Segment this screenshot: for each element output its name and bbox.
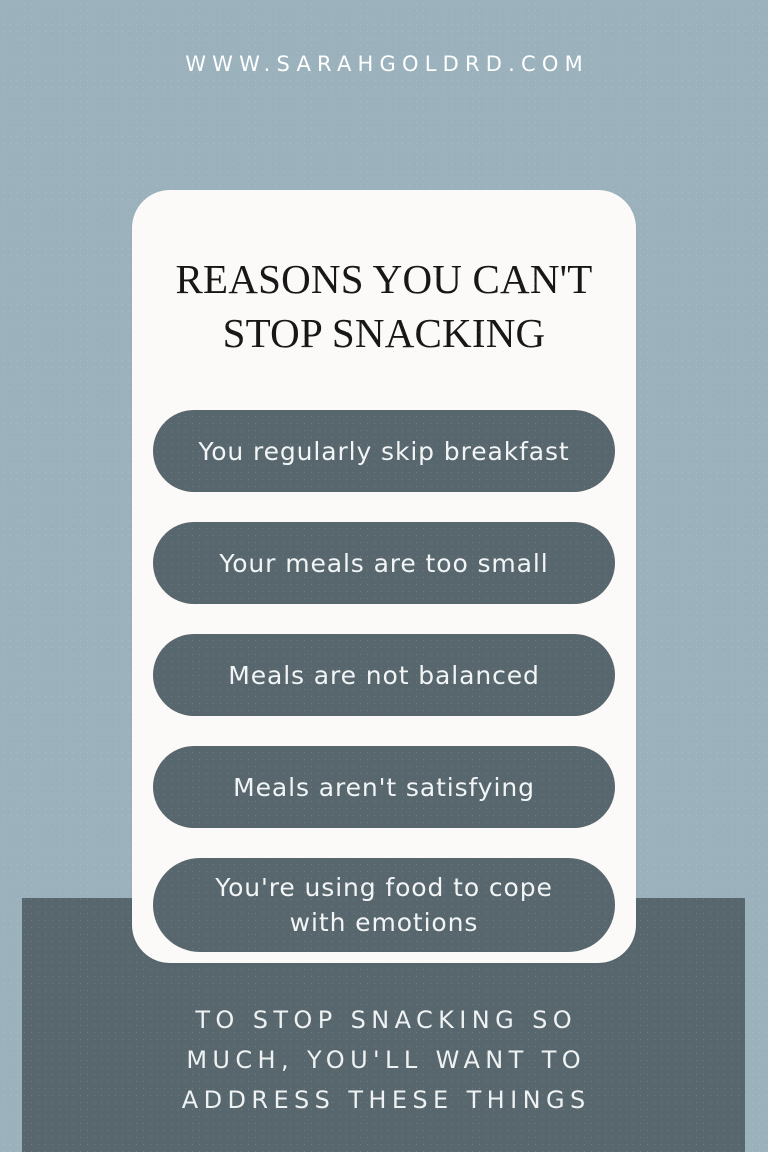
footer-caption-line-2: MUCH, YOU'LL WANT TO (22, 1040, 745, 1080)
footer-caption: TO STOP SNACKING SO MUCH, YOU'LL WANT TO… (22, 1000, 745, 1120)
list-item[interactable]: You're using food to cope with emotions (153, 858, 615, 952)
footer-caption-line-3: ADDRESS THESE THINGS (22, 1080, 745, 1120)
list-item-label-line-1: You're using food to cope (215, 873, 553, 902)
list-item-label: Meals are not balanced (228, 658, 540, 693)
page-title: REASONS YOU CAN'T STOP SNACKING (158, 252, 610, 360)
list-item[interactable]: Meals are not balanced (153, 634, 615, 716)
content-card: REASONS YOU CAN'T STOP SNACKING You regu… (132, 190, 636, 963)
list-item-label: Meals aren't satisfying (233, 770, 535, 805)
reasons-list: You regularly skip breakfast Your meals … (153, 410, 615, 952)
poster-canvas: WWW.SARAHGOLDRD.COM TO STOP SNACKING SO … (0, 0, 768, 1152)
page-title-line-2: STOP SNACKING (223, 310, 546, 356)
list-item[interactable]: You regularly skip breakfast (153, 410, 615, 492)
list-item-label-line-2: with emotions (290, 908, 479, 937)
list-item[interactable]: Meals aren't satisfying (153, 746, 615, 828)
list-item-label: Your meals are too small (219, 546, 548, 581)
list-item[interactable]: Your meals are too small (153, 522, 615, 604)
page-title-line-1: REASONS YOU CAN'T (175, 256, 592, 302)
list-item-label: You're using food to cope with emotions (215, 870, 553, 940)
footer-caption-line-1: TO STOP SNACKING SO (22, 1000, 745, 1040)
list-item-label: You regularly skip breakfast (198, 434, 569, 469)
site-url-text: WWW.SARAHGOLDRD.COM (0, 52, 768, 76)
